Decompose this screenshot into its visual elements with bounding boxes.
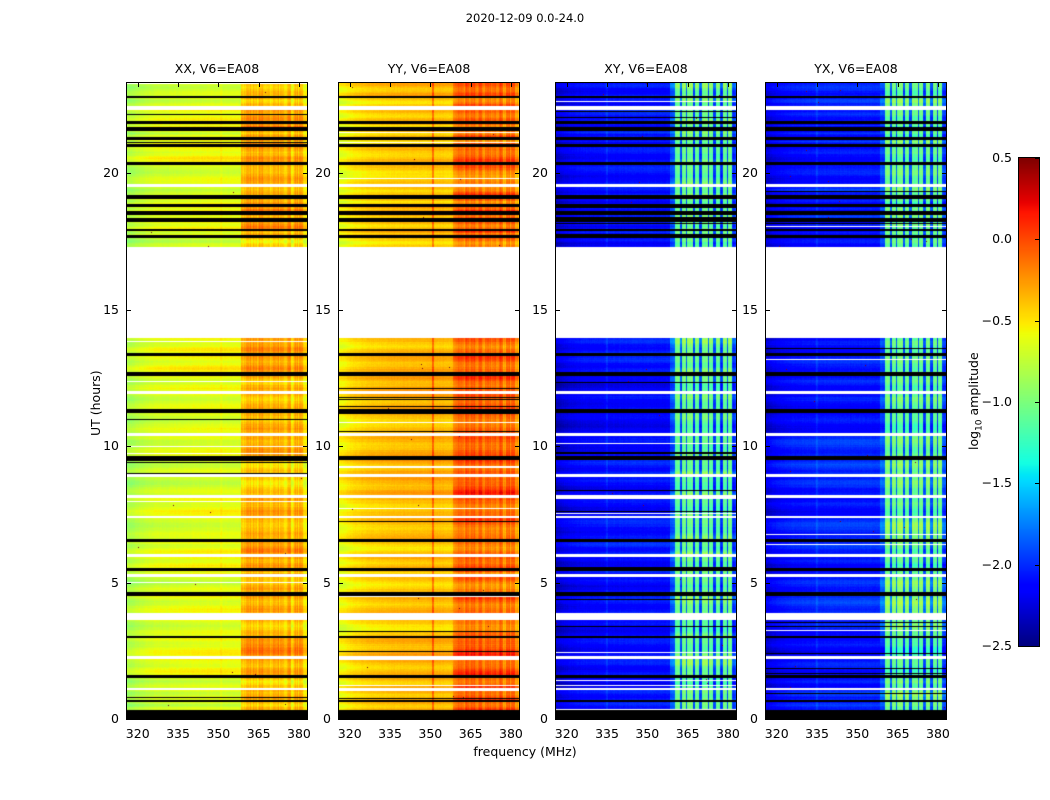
x-tick-mark-top [898,83,899,87]
x-tick-label: 380 [706,726,750,741]
y-tick-mark [556,446,560,447]
y-axis-label: UT (hours) [88,370,103,436]
y-tick-mark [127,173,131,174]
y-tick-label: 15 [298,302,331,317]
x-tick-label: 335 [368,726,412,741]
x-tick-mark-top [350,83,351,87]
x-tick-mark [688,715,689,719]
y-tick-label: 20 [515,165,548,180]
y-tick-mark [556,310,560,311]
x-tick-mark [350,715,351,719]
y-tick-label: 10 [298,438,331,453]
y-tick-mark [339,446,343,447]
x-tick-mark [938,715,939,719]
y-tick-mark [127,310,131,311]
x-tick-mark [259,715,260,719]
x-tick-mark [777,715,778,719]
x-tick-mark [138,715,139,719]
y-tick-mark [339,173,343,174]
x-tick-mark-top [857,83,858,87]
x-tick-label: 335 [795,726,839,741]
x-tick-label: 320 [545,726,589,741]
x-tick-label: 380 [277,726,321,741]
x-tick-mark [857,715,858,719]
y-tick-label: 15 [725,302,758,317]
x-tick-label: 335 [156,726,200,741]
heatmap-image-yx [766,83,946,719]
x-tick-mark [430,715,431,719]
heatmap-panel-xy: XY, V6=EA08 [555,82,737,720]
y-tick-mark [766,719,770,720]
heatmap-image-xx [127,83,307,719]
x-tick-label: 350 [408,726,452,741]
x-tick-label: 380 [916,726,960,741]
x-tick-mark-top [178,83,179,87]
x-tick-mark [647,715,648,719]
x-tick-mark-top [647,83,648,87]
x-tick-label: 365 [876,726,920,741]
figure-suptitle: 2020-12-09 0.0-24.0 [0,11,1050,25]
x-tick-label: 350 [625,726,669,741]
y-tick-label: 5 [298,575,331,590]
y-tick-mark [339,583,343,584]
y-tick-mark [766,173,770,174]
x-tick-mark-top [218,83,219,87]
x-tick-label: 365 [449,726,493,741]
y-tick-mark [339,310,343,311]
y-tick-label: 15 [86,302,119,317]
colorbar-tick-mark [1035,402,1039,403]
x-tick-label: 320 [755,726,799,741]
heatmap-panel-yx: YX, V6=EA08 [765,82,947,720]
x-tick-mark [817,715,818,719]
x-tick-mark-top [567,83,568,87]
colorbar-axis-label: log10 amplitude [966,352,985,450]
colorbar-tick-mark [1035,321,1039,322]
x-tick-mark-top [938,83,939,87]
y-tick-label: 10 [86,438,119,453]
y-tick-label: 0 [298,711,331,726]
x-tick-mark [471,715,472,719]
x-tick-label: 365 [237,726,281,741]
x-tick-mark-top [471,83,472,87]
x-tick-mark-top [390,83,391,87]
y-tick-label: 20 [725,165,758,180]
y-tick-mark-right [942,583,946,584]
colorbar-tick-mark [1035,646,1039,647]
x-tick-mark [607,715,608,719]
x-tick-label: 320 [328,726,372,741]
x-tick-mark [511,715,512,719]
x-tick-mark-top [728,83,729,87]
x-tick-mark [178,715,179,719]
colorbar-tick-mark [1035,565,1039,566]
x-tick-label: 335 [585,726,629,741]
y-tick-mark-right [942,719,946,720]
y-tick-mark [766,446,770,447]
y-tick-label: 0 [86,711,119,726]
y-tick-label: 10 [725,438,758,453]
y-tick-mark [556,719,560,720]
x-tick-mark-top [138,83,139,87]
colorbar-tick-label: −1.5 [972,475,1012,490]
x-tick-mark-top [777,83,778,87]
colorbar-tick-label: −2.0 [972,557,1012,572]
x-tick-label: 320 [116,726,160,741]
heatmap-image-yy [339,83,519,719]
colorbar-tick-label: −0.5 [972,313,1012,328]
y-tick-mark-right [942,446,946,447]
x-tick-label: 365 [666,726,710,741]
y-tick-label: 0 [515,711,548,726]
x-tick-mark [567,715,568,719]
y-tick-label: 10 [515,438,548,453]
y-tick-mark [556,583,560,584]
y-tick-mark-right [942,310,946,311]
panel-title-yx: YX, V6=EA08 [726,61,986,76]
colorbar-tick-label: 0.0 [972,231,1012,246]
y-tick-mark [127,446,131,447]
x-tick-mark-top [607,83,608,87]
x-tick-mark [390,715,391,719]
colorbar-tick-label: −2.5 [972,638,1012,653]
y-tick-mark [339,719,343,720]
x-tick-mark-top [259,83,260,87]
heatmap-panel-xx: XX, V6=EA08 [126,82,308,720]
figure-canvas: 2020-12-09 0.0-24.0 XX, V6=EA08YY, V6=EA… [0,0,1050,800]
colorbar-tick-mark [1035,239,1039,240]
y-tick-mark [556,173,560,174]
y-tick-label: 5 [86,575,119,590]
y-tick-mark [127,583,131,584]
y-tick-label: 20 [298,165,331,180]
colorbar-tick-mark [1035,483,1039,484]
y-tick-label: 5 [725,575,758,590]
x-tick-mark [898,715,899,719]
y-tick-mark [766,310,770,311]
x-tick-mark-top [511,83,512,87]
x-tick-mark-top [817,83,818,87]
y-tick-mark [127,719,131,720]
x-tick-mark-top [299,83,300,87]
colorbar-tick-label: 0.5 [972,150,1012,165]
y-tick-label: 15 [515,302,548,317]
x-axis-label: frequency (MHz) [0,744,1050,759]
x-tick-label: 380 [489,726,533,741]
y-tick-mark [766,583,770,584]
x-tick-mark [218,715,219,719]
colorbar-tick-mark [1035,158,1039,159]
y-tick-label: 0 [725,711,758,726]
y-tick-label: 20 [86,165,119,180]
x-tick-label: 350 [196,726,240,741]
y-tick-label: 5 [515,575,548,590]
x-tick-label: 350 [835,726,879,741]
heatmap-image-xy [556,83,736,719]
y-tick-mark-right [942,173,946,174]
x-tick-mark-top [430,83,431,87]
x-tick-mark-top [688,83,689,87]
heatmap-panel-yy: YY, V6=EA08 [338,82,520,720]
